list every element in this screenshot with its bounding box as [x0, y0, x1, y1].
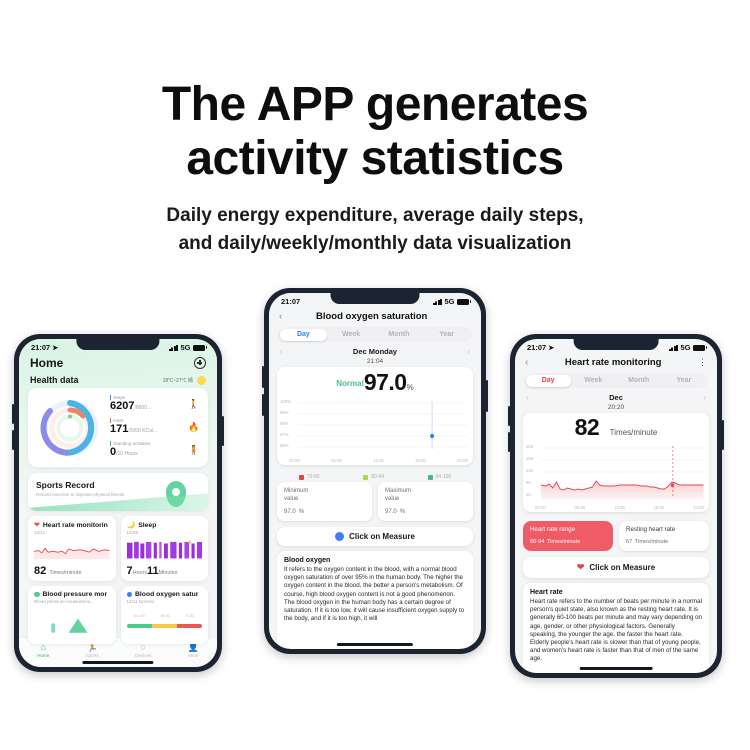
hr-chart: 200 160 120 80 40: [523, 442, 709, 504]
home-indicator: [337, 643, 413, 646]
hr-xtick-3: 18:00: [654, 505, 665, 510]
weather-text: 18℃~27℃ 晴: [163, 377, 193, 384]
spo2-chart-svg: [277, 397, 473, 457]
hr-range-unit: Times/minute: [547, 539, 580, 545]
hr-xtick-1: 06:00: [575, 505, 586, 510]
max-label-2: value: [385, 496, 399, 502]
sleep-mini-chart: [127, 538, 203, 560]
heart-rate-card[interactable]: ❤Heart rate monitorin 12/11 82 Times/min…: [28, 516, 116, 581]
sleep-card[interactable]: 🌙Sleep 12/09: [121, 516, 209, 581]
activity-stats-list: Steps 6207/8000... 🚶 Heat 171/2000 KCal.…: [104, 395, 200, 460]
page-title: The APP generates activity statistics: [0, 78, 750, 186]
hr-summary-row: Heart rate range 66-94 Times/minute Rest…: [515, 517, 717, 551]
tab-month[interactable]: Month: [375, 329, 423, 341]
title-line-2: activity statistics: [186, 132, 563, 185]
click-on-measure-button[interactable]: Click on Measure: [277, 527, 473, 546]
home-header: Home: [19, 354, 217, 370]
chevron-left-icon[interactable]: ‹: [525, 358, 528, 368]
tab-month[interactable]: Month: [616, 375, 661, 387]
legend-item-0: 70-80: [299, 474, 320, 480]
hr-xtick-0: 00:00: [535, 505, 546, 510]
spo2-status-label: Normal: [336, 379, 364, 388]
measure-button-label: Click on Measure: [349, 532, 415, 541]
volume-down-button[interactable]: [12, 430, 14, 450]
promo-page: The APP generates activity statistics Da…: [0, 0, 750, 750]
sleep-card-minutes: 11: [147, 565, 159, 577]
notch: [574, 339, 659, 350]
heart-rate-range-card: Heart rate range 66-94 Times/minute: [523, 521, 613, 551]
notch: [330, 293, 419, 304]
spo2-ytick-1: 99%: [280, 410, 289, 415]
heart-rate-card-date: 12/11: [34, 530, 110, 535]
measure-time: 21:04: [269, 358, 481, 365]
measure-button-label: Click on Measure: [589, 563, 655, 572]
volume-down-button[interactable]: [508, 432, 510, 452]
bo-label-0: 94-100: [134, 614, 145, 618]
signal-bars-icon: [669, 345, 678, 351]
hr-xaxis: 00:00 06:00 12:00 18:00 24:00: [523, 504, 709, 510]
metric-cards-row-2: Blood pressure mor Blood pressure measur…: [28, 586, 208, 644]
network-label: 5G: [680, 343, 690, 352]
tab-week[interactable]: Week: [571, 375, 616, 387]
hr-ytick-1: 160: [526, 456, 533, 461]
spo2-ytick-2: 98%: [280, 421, 289, 426]
status-time: 21:07: [31, 343, 50, 352]
blood-pressure-card-title: Blood pressure mor: [43, 591, 108, 598]
location-arrow-icon: ➤: [548, 344, 554, 352]
min-value: 97.0: [284, 509, 296, 515]
current-date: Dec Monday: [353, 347, 397, 356]
tab-devices-label: Devices: [135, 653, 151, 658]
hr-xtick-2: 12:00: [614, 505, 625, 510]
heart-icon: ❤: [577, 562, 585, 573]
tab-week[interactable]: Week: [327, 329, 375, 341]
volume-up-button[interactable]: [262, 366, 264, 388]
prev-day-button[interactable]: ‹: [280, 348, 283, 356]
blood-pressure-card-subtitle: Blood pressure measureme...: [34, 599, 110, 604]
nav-header: ‹ Blood oxygen saturation: [269, 308, 481, 327]
power-button[interactable]: [222, 416, 224, 446]
stand-icon: 🧍: [188, 445, 200, 456]
tab-day[interactable]: Day: [280, 329, 328, 341]
stat-standing-sub: /10 Hours: [116, 451, 138, 457]
bo-label-1: 80-94: [161, 614, 170, 618]
blood-oxygen-card-subtitle: 12/11 Normal: [127, 599, 203, 604]
date-navigator: ‹ Dec ›: [515, 388, 717, 403]
tab-year[interactable]: Year: [661, 375, 706, 387]
click-on-measure-button[interactable]: ❤ Click on Measure: [523, 557, 709, 578]
headline-block: The APP generates activity statistics Da…: [0, 78, 750, 258]
oxygen-drop-icon: [335, 532, 344, 541]
sleep-card-date: 12/09: [127, 530, 203, 535]
tab-year[interactable]: Year: [423, 329, 471, 341]
spo2-xtick-3: 18:00: [415, 458, 426, 463]
article-heading: Heart rate: [530, 589, 702, 596]
network-label: 5G: [180, 343, 190, 352]
heart-rate-mini-chart: [34, 538, 110, 560]
phone-center-screen: 21:07 5G ‹ Blood oxygen saturation Day W…: [269, 293, 481, 649]
phone-left: 21:07 ➤ 5G Home Health data: [14, 334, 222, 672]
stat-heat-value: 171: [110, 423, 128, 435]
legend-label-1: 80-94: [371, 474, 384, 480]
title-line-1: The APP generates: [162, 78, 588, 131]
blood-pressure-card[interactable]: Blood pressure mor Blood pressure measur…: [28, 586, 116, 644]
hr-range-value: 66-94: [530, 539, 544, 545]
volume-up-button[interactable]: [12, 404, 14, 424]
tab-home-label: Home: [37, 653, 49, 658]
activity-rings-card[interactable]: Steps 6207/8000... 🚶 Heat 171/2000 KCal.…: [28, 388, 208, 467]
hr-chart-card: 82 Times/minute: [523, 413, 709, 512]
tab-day[interactable]: Day: [526, 375, 571, 387]
stat-standing[interactable]: Standing activities 0/10 Hours 🧍: [110, 441, 200, 460]
max-unit: %: [400, 509, 405, 515]
blue-dot-icon: [127, 592, 133, 598]
chevron-left-icon[interactable]: ‹: [279, 312, 282, 322]
flame-icon: 🔥: [188, 422, 200, 433]
hr-ytick-4: 40: [526, 492, 531, 497]
spo2-xtick-1: 06:00: [331, 458, 342, 463]
activity-rings-chart: [36, 397, 104, 459]
min-label-2: value: [284, 496, 298, 502]
home-indicator: [82, 661, 153, 664]
resting-hr-unit: Times/minute: [635, 539, 668, 545]
hr-unit: Times/minute: [610, 428, 658, 437]
resting-heart-rate-card: Resting heart rate 67 Times/minute: [619, 521, 709, 551]
subtitle-line-1: Daily energy expenditure, average daily …: [166, 205, 583, 226]
network-label: 5G: [444, 297, 454, 306]
article-body: Heart rate refers to the number of beats…: [530, 598, 702, 664]
home-indicator: [580, 667, 653, 670]
next-day-button[interactable]: ›: [703, 394, 706, 402]
hr-chart-svg: [523, 442, 709, 504]
spo2-ytick-0: 100%: [280, 399, 291, 404]
legend-label-2: 94-100: [436, 474, 452, 480]
heart-rate-card-unit: Times/minute: [49, 570, 81, 576]
hr-value: 82: [575, 414, 600, 440]
minimum-value-card: Minimumvalue 97.0 %: [277, 482, 372, 521]
tab-mine-label: Mine: [188, 653, 199, 658]
subtitle-line-2: and daily/weekly/monthly data visualizat…: [179, 233, 572, 254]
article-heading: Blood oxygen: [284, 557, 466, 564]
heart-icon: ❤: [34, 521, 40, 529]
date-navigator: ‹ Dec Monday ›: [269, 342, 481, 357]
spo2-xaxis: 00:00 06:00 12:00 18:00 24:00: [277, 457, 473, 463]
blood-oxygen-card-title: Blood oxygen satur: [135, 591, 198, 598]
spo2-xtick-2: 12:00: [373, 458, 384, 463]
sports-record-card[interactable]: Sports Record Record exercise to improve…: [28, 473, 208, 511]
max-value: 97.0: [385, 509, 397, 515]
resting-hr-label: Resting heart rate: [626, 526, 702, 534]
spo2-chart: 100% 99% 98% 97% 96%: [277, 397, 473, 457]
blood-oxygen-range-bar: [127, 624, 203, 628]
max-label-1: Maximum: [385, 488, 411, 494]
heart-rate-article: Heart rate Heart rate refers to the numb…: [523, 583, 709, 673]
green-dot-icon: [34, 592, 40, 598]
sleep-card-minutes-unit: Minutes: [159, 570, 178, 576]
health-data-header: Health data 18℃~27℃ 晴: [19, 370, 217, 388]
legend-label-0: 70-80: [307, 474, 320, 480]
hr-ytick-0: 200: [526, 444, 533, 449]
power-button[interactable]: [486, 380, 488, 412]
location-arrow-icon: ➤: [52, 344, 58, 352]
measure-time: 20:20: [515, 404, 717, 411]
heart-rate-card-title: Heart rate monitorin: [43, 522, 108, 529]
nav-header: ‹ Heart rate monitoring ⋮: [515, 354, 717, 373]
stat-heat-sub: /2000 KCal...: [128, 428, 157, 434]
phone-center: 21:07 5G ‹ Blood oxygen saturation Day W…: [264, 288, 486, 654]
stat-steps[interactable]: Steps 6207/8000... 🚶: [110, 395, 200, 414]
spo2-legend: 70-80 80-94 94-100: [269, 470, 481, 482]
battery-icon: [457, 299, 469, 305]
status-time: 21:07: [527, 343, 546, 352]
min-label-1: Minimum: [284, 488, 308, 494]
health-data-title: Health data: [30, 375, 79, 385]
spo2-reading: Normal97.0%: [277, 367, 473, 397]
screen-title: Blood oxygen saturation: [316, 311, 427, 322]
add-circle-icon[interactable]: [194, 357, 206, 369]
spo2-ytick-4: 96%: [280, 443, 289, 448]
sleep-card-hours-unit: Hours: [133, 570, 147, 576]
minmax-row: Minimumvalue 97.0 % Maximumvalue 97.0 %: [269, 482, 481, 521]
hr-reading: 82 Times/minute: [523, 413, 709, 442]
period-tabs: Day Week Month Year: [524, 373, 708, 388]
hr-range-label: Heart rate range: [530, 526, 606, 534]
legend-item-2: 94-100: [428, 474, 452, 480]
maximum-value-card: Maximumvalue 97.0 %: [378, 482, 473, 521]
page-subtitle: Daily energy expenditure, average daily …: [0, 202, 750, 258]
spo2-ytick-3: 97%: [280, 432, 289, 437]
status-time: 21:07: [281, 297, 300, 306]
blood-oxygen-card[interactable]: Blood oxygen satur 12/11 Normal 94-100 8…: [121, 586, 209, 644]
current-date: Dec: [609, 393, 623, 402]
volume-up-button[interactable]: [508, 406, 510, 426]
spo2-xtick-4: 24:00: [457, 458, 468, 463]
blood-oxygen-article: Blood oxygen It refers to the oxygen con…: [277, 551, 473, 643]
volume-down-button[interactable]: [262, 394, 264, 416]
hr-ytick-2: 120: [526, 468, 533, 473]
screen-title: Heart rate monitoring: [565, 357, 662, 368]
resting-hr-value: 67: [626, 539, 632, 545]
sun-icon: [197, 376, 206, 385]
spo2-unit: %: [407, 383, 414, 392]
kebab-menu-icon[interactable]: ⋮: [698, 358, 707, 367]
spo2-value: 97.0: [364, 369, 407, 395]
blood-pressure-mini-chart: [34, 608, 110, 634]
hr-ytick-3: 80: [526, 480, 531, 485]
heart-rate-card-value: 82: [34, 565, 46, 577]
next-day-button[interactable]: ›: [467, 348, 470, 356]
moon-icon: 🌙: [127, 521, 136, 529]
spo2-xtick-0: 00:00: [289, 458, 300, 463]
legend-item-1: 80-94: [363, 474, 384, 480]
phone-right: 21:07 ➤ 5G ‹ Heart rate monitoring ⋮ Da: [510, 334, 722, 678]
walking-icon: 🚶: [188, 399, 200, 410]
phone-left-screen: 21:07 ➤ 5G Home Health data: [19, 339, 217, 667]
stat-steps-value: 6207: [110, 400, 134, 412]
min-unit: %: [299, 509, 304, 515]
tab-sports-label: Sports: [86, 653, 99, 658]
power-button[interactable]: [722, 420, 724, 450]
prev-day-button[interactable]: ‹: [526, 394, 529, 402]
home-title: Home: [30, 356, 63, 370]
stat-heat[interactable]: Heat 171/2000 KCal... 🔥: [110, 418, 200, 437]
battery-icon: [193, 345, 205, 351]
stat-steps-sub: /8000...: [134, 405, 151, 411]
sleep-card-title: Sleep: [138, 522, 156, 529]
period-tabs: Day Week Month Year: [278, 327, 472, 342]
metric-cards-row-1: ❤Heart rate monitorin 12/11 82 Times/min…: [28, 516, 208, 581]
battery-icon: [693, 345, 705, 351]
signal-bars-icon: [433, 299, 442, 305]
article-body: It refers to the oxygen content in the b…: [284, 566, 466, 623]
signal-bars-icon: [169, 345, 178, 351]
notch: [76, 339, 159, 350]
spo2-chart-card: Normal97.0% 100% 99%: [277, 367, 473, 465]
phone-right-screen: 21:07 ➤ 5G ‹ Heart rate monitoring ⋮ Da: [515, 339, 717, 673]
bo-label-2: 70-80: [185, 614, 194, 618]
hr-xtick-4: 24:00: [693, 505, 704, 510]
